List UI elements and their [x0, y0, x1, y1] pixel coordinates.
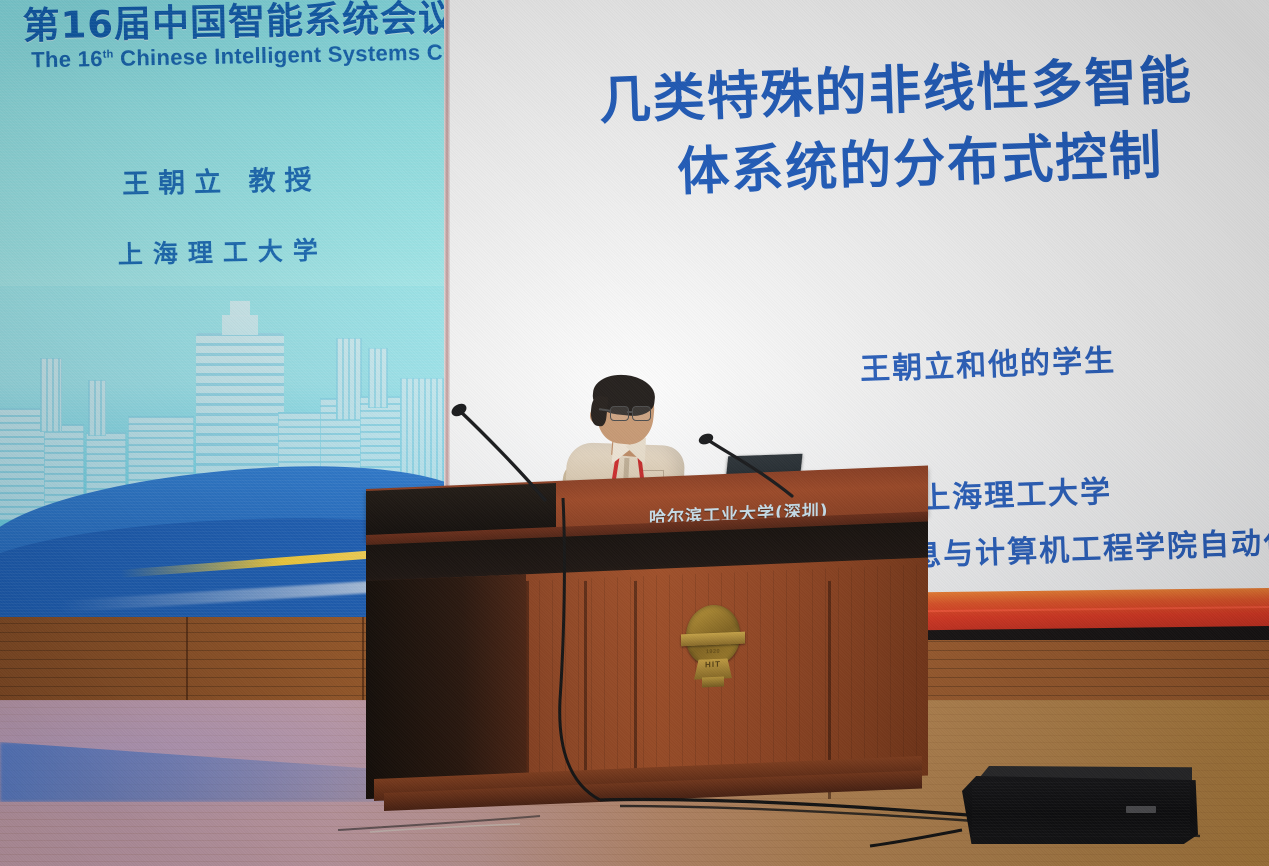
stage-monitor-speaker — [962, 766, 1198, 844]
ordinal-suffix: th — [103, 49, 114, 61]
hit-emblem-icon: 1920 HIT — [680, 602, 746, 691]
left-screen-speaker-block: 王朝立 教授 上海理工大学 — [0, 155, 444, 273]
podium-panel-seam — [584, 581, 587, 799]
podium: 哈尔滨工业大学(深圳) HARBIN INSTITUTE OF TECHNOLO… — [366, 489, 928, 829]
podium-side-panel — [366, 574, 526, 799]
left-screen-header: 第16届中国智能系统会议 The 16th Chinese Intelligen… — [0, 0, 444, 100]
monitor-brand-badge — [1126, 806, 1156, 813]
talk-title-line-1: 几类特殊的非线性多智能 — [598, 51, 1194, 132]
emblem-initials: HIT — [694, 659, 732, 670]
talk-title: 几类特殊的非线性多智能 体系统的分布式控制 — [598, 39, 1269, 212]
conference-title-english-pre: The 16 — [31, 46, 103, 72]
podium-panel-seam — [526, 581, 529, 799]
talk-authors: 王朝立和他的学生 — [859, 336, 1116, 389]
speaker-organization-label: 上海理工大学 — [0, 228, 444, 273]
podium-panel-seam — [634, 581, 637, 799]
talk-affiliation-line-1: 上海理工大学 — [919, 467, 1112, 518]
talk-title-line-2: 体系统的分布式控制 — [600, 113, 1269, 212]
speaker-name-label: 王朝立 教授 — [0, 155, 444, 203]
glasses-icon — [610, 406, 652, 420]
conference-stage-photo: 第16届中国智能系统会议 The 16th Chinese Intelligen… — [0, 0, 1269, 866]
